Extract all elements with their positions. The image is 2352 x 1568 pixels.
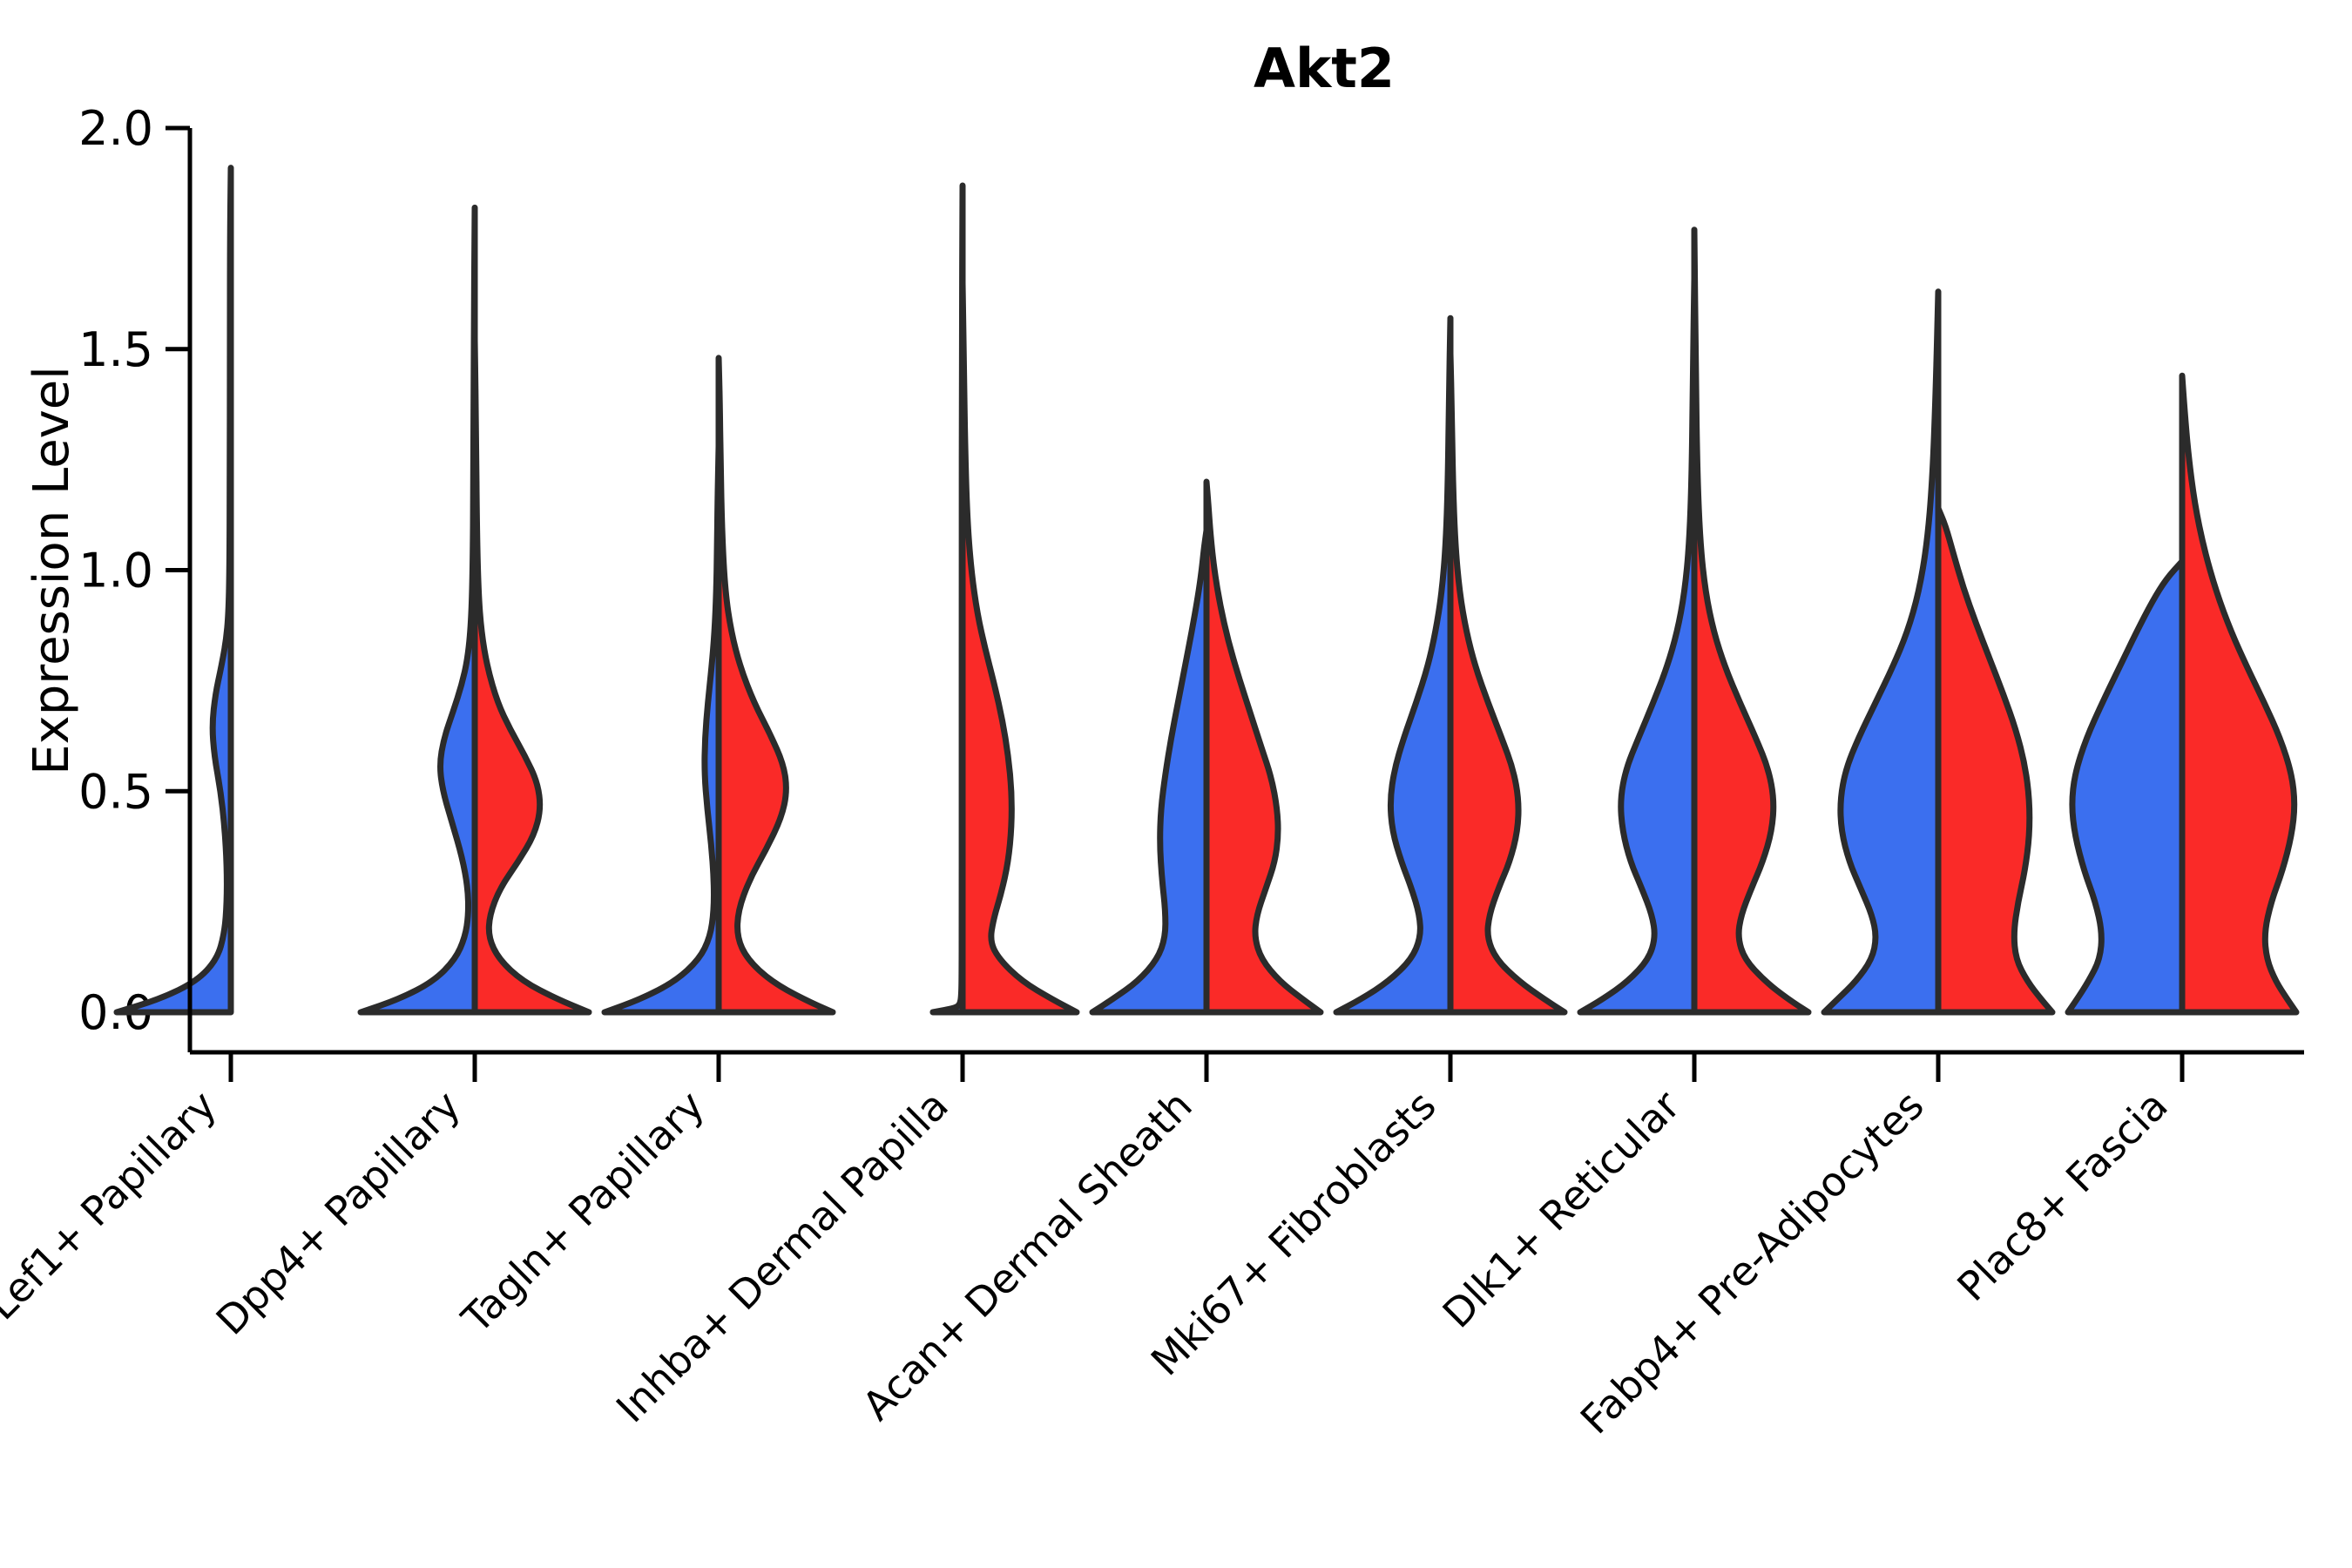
y-axis-label: Expression Level: [24, 366, 80, 775]
y-tick-label: 1.5: [78, 322, 153, 377]
y-tick-label: 2.0: [78, 101, 153, 156]
plot-canvas: Akt2 Expression Level 0.00.51.01.52.0 Le…: [0, 0, 2352, 1568]
violin-plot-figure: Akt2 Expression Level 0.00.51.01.52.0 Le…: [0, 0, 2352, 1568]
page-title: Akt2: [1254, 37, 1395, 100]
y-tick-label: 1.0: [78, 544, 153, 598]
y-tick-label: 0.5: [78, 764, 153, 819]
